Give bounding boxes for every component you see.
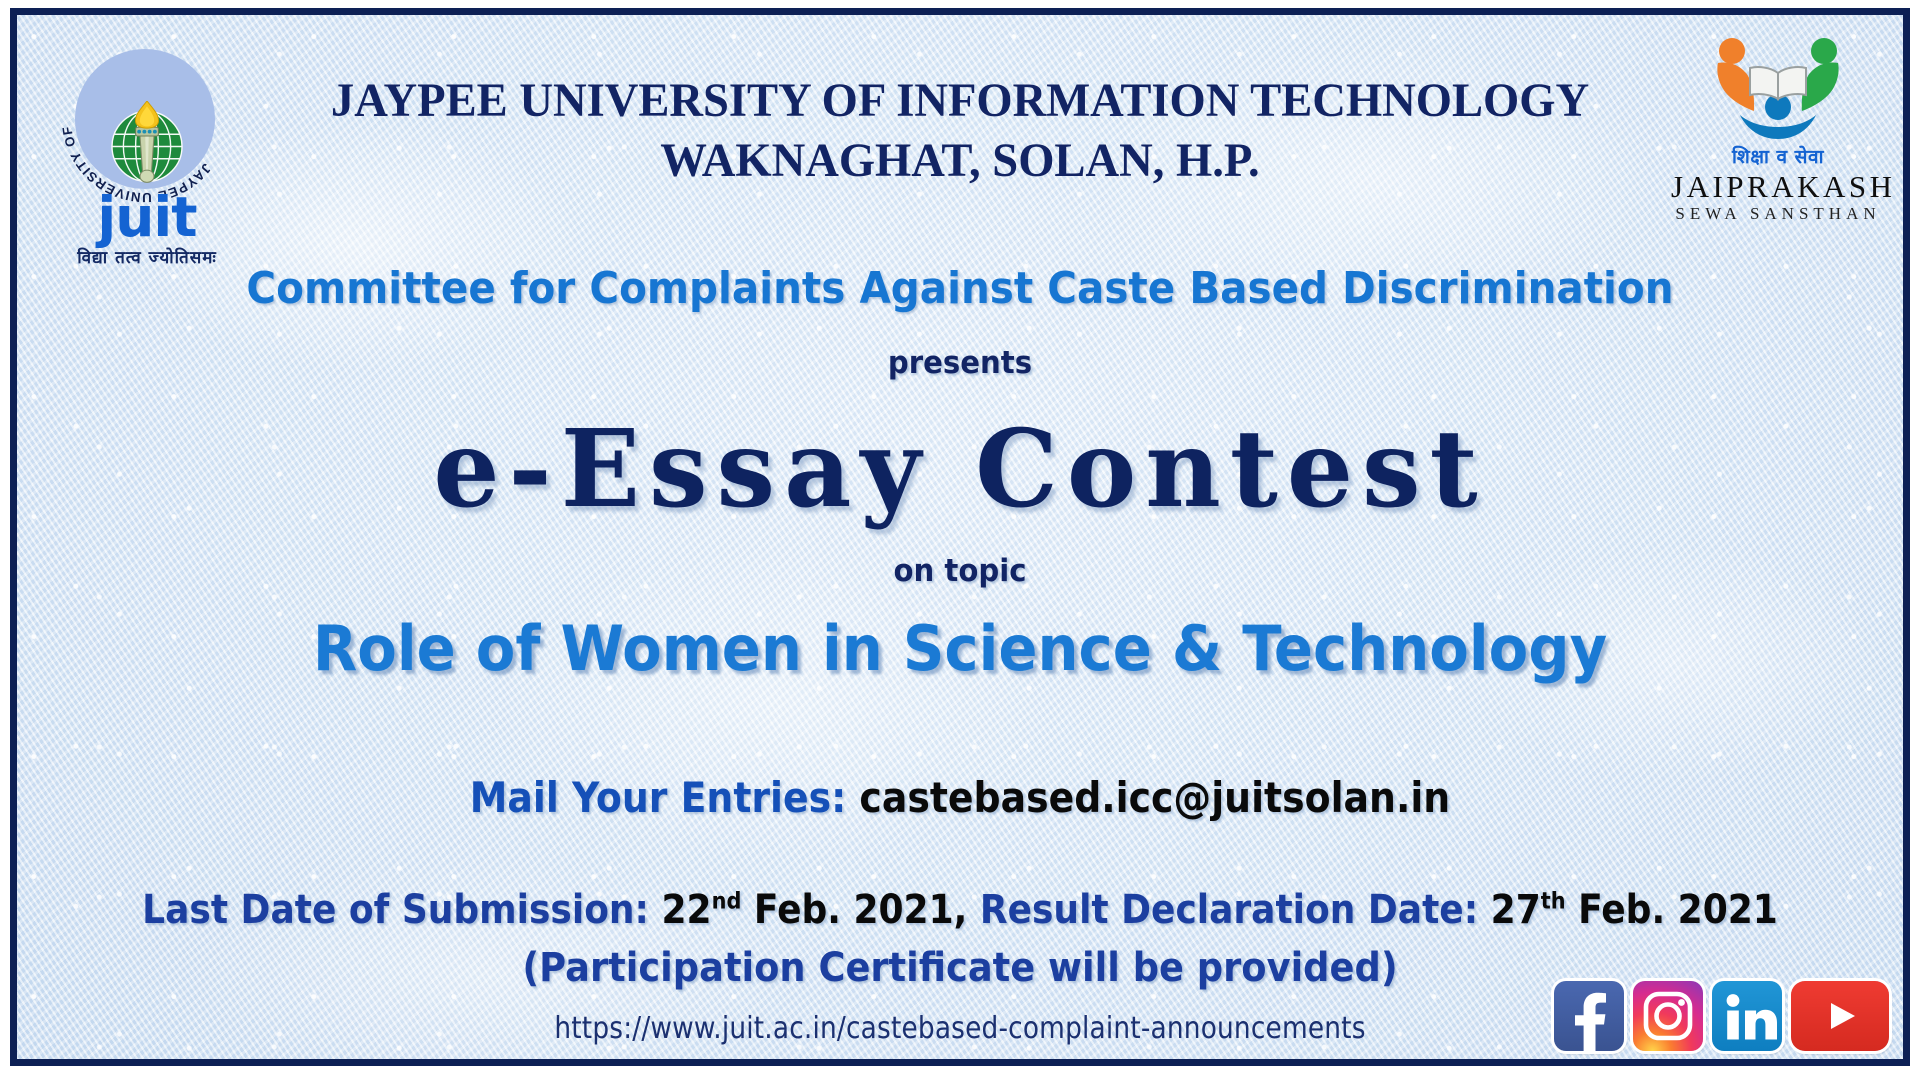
event-title: e-Essay Contest xyxy=(17,411,1903,526)
juit-wordmark: juit xyxy=(67,191,227,243)
poster-canvas: JAYPEE UNIVERSITY OF INFORMATION TECHNOL… xyxy=(0,0,1920,1080)
submission-month-year: Feb. 2021, xyxy=(741,887,979,933)
poster-frame: JAYPEE UNIVERSITY OF INFORMATION TECHNOL… xyxy=(10,8,1910,1066)
result-month-year: Feb. 2021 xyxy=(1566,887,1778,933)
on-topic-label: on topic xyxy=(74,553,1847,589)
youtube-icon[interactable] xyxy=(1791,981,1889,1051)
mail-entries-address[interactable]: castebased.icc@juitsolan.in xyxy=(859,773,1450,822)
mail-entries-line: Mail Your Entries: castebased.icc@juitso… xyxy=(111,773,1808,822)
university-title: JAYPEE UNIVERSITY OF INFORMATION TECHNOL… xyxy=(274,71,1646,191)
jaiprakash-name: JAIPRAKASH xyxy=(1671,171,1885,202)
instagram-glyph-icon xyxy=(1633,981,1703,1051)
facebook-glyph-icon xyxy=(1554,981,1624,1051)
result-ordinal: th xyxy=(1541,888,1566,915)
juit-torch-globe-icon xyxy=(101,101,193,185)
presents-label: presents xyxy=(74,345,1847,381)
instagram-icon[interactable] xyxy=(1633,981,1703,1051)
facebook-icon[interactable] xyxy=(1554,981,1624,1051)
essay-topic: Role of Women in Science & Technology xyxy=(83,613,1837,685)
juit-logo: JAYPEE UNIVERSITY OF INFORMATION TECHNOL… xyxy=(39,23,251,275)
university-title-line1: JAYPEE UNIVERSITY OF INFORMATION TECHNOL… xyxy=(274,71,1646,131)
social-links xyxy=(1554,981,1889,1051)
submission-date-value: 22nd Feb. 2021, xyxy=(661,887,979,933)
committee-name: Committee for Complaints Against Caste B… xyxy=(92,263,1827,315)
university-title-line2: WAKNAGHAT, SOLAN, H.P. xyxy=(274,131,1646,191)
result-day: 27 xyxy=(1491,887,1541,933)
mail-entries-label: Mail Your Entries: xyxy=(470,773,846,822)
linkedin-glyph-icon xyxy=(1712,981,1782,1051)
jaiprakash-subtitle: SEWA SANSTHAN xyxy=(1671,205,1885,222)
youtube-play-glyph-icon xyxy=(1791,981,1889,1051)
linkedin-icon[interactable] xyxy=(1712,981,1782,1051)
submission-ordinal: nd xyxy=(712,888,742,915)
submission-date-label: Last Date of Submission: xyxy=(142,887,649,933)
result-date-value: 27th Feb. 2021 xyxy=(1491,887,1778,933)
jaiprakash-hindi-tagline: शिक्षा व सेवा xyxy=(1671,143,1885,169)
jaiprakash-mark-icon xyxy=(1700,29,1856,147)
submission-day: 22 xyxy=(661,887,711,933)
dates-line: Last Date of Submission: 22nd Feb. 2021,… xyxy=(111,887,1808,933)
announcement-url[interactable]: https://www.juit.ac.in/castebased-compla… xyxy=(130,1011,1790,1046)
result-date-label: Result Declaration Date: xyxy=(980,887,1478,933)
jaiprakash-logo: शिक्षा व सेवा JAIPRAKASH SEWA SANSTHAN xyxy=(1671,29,1885,234)
